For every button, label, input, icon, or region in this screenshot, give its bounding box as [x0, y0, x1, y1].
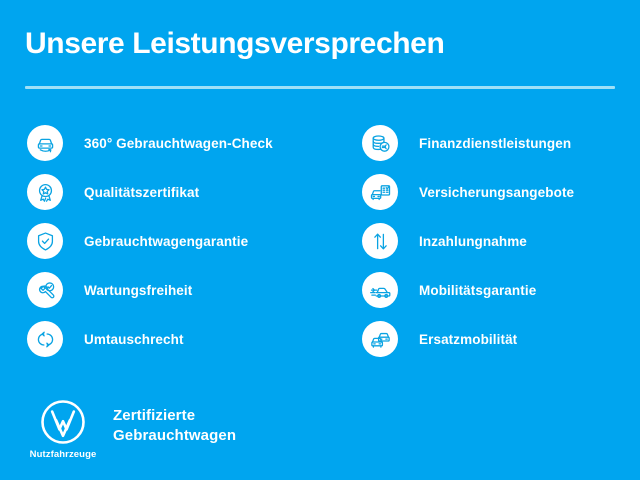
benefit-item[interactable]: Umtauschrecht	[27, 321, 273, 357]
title-divider	[25, 86, 615, 89]
benefits-column-left: 360° Gebrauchtwagen-Check Qualitätszerti…	[27, 125, 273, 357]
footer: Nutzfahrzeuge Zertifizierte Gebrauchtwag…	[27, 398, 236, 460]
benefit-label: Wartungsfreiheit	[84, 283, 192, 298]
exchange-arrows-icon	[27, 321, 63, 357]
benefit-item[interactable]: Gebrauchtwagengarantie	[27, 223, 273, 259]
benefit-item[interactable]: Qualitätszertifikat	[27, 174, 273, 210]
car-motion-icon	[362, 272, 398, 308]
footer-headline: Zertifizierte Gebrauchtwagen	[113, 406, 236, 446]
footer-headline-line2: Gebrauchtwagen	[113, 426, 236, 446]
benefit-label: Mobilitätsgarantie	[419, 283, 536, 298]
benefit-label: Gebrauchtwagengarantie	[84, 234, 248, 249]
car-check-360-icon	[27, 125, 63, 161]
benefit-label: Versicherungsangebote	[419, 185, 574, 200]
benefit-label: Qualitätszertifikat	[84, 185, 199, 200]
benefit-item[interactable]: 360° Gebrauchtwagen-Check	[27, 125, 273, 161]
footer-headline-line1: Zertifizierte	[113, 406, 236, 426]
benefit-item[interactable]: Wartungsfreiheit	[27, 272, 273, 308]
page-title: Unsere Leistungsversprechen	[25, 27, 444, 61]
wrench-check-icon	[27, 272, 63, 308]
benefit-item[interactable]: Versicherungsangebote	[362, 174, 574, 210]
benefit-item[interactable]: Finanzdienstleistungen	[362, 125, 574, 161]
car-checklist-icon	[362, 174, 398, 210]
benefit-label: Finanzdienstleistungen	[419, 136, 571, 151]
benefit-label: Ersatzmobilität	[419, 332, 517, 347]
benefit-label: Umtauschrecht	[84, 332, 184, 347]
benefit-item[interactable]: Mobilitätsgarantie	[362, 272, 574, 308]
benefits-column-right: Finanzdienstleistungen Versicherungsange…	[362, 125, 574, 357]
coins-euro-icon	[362, 125, 398, 161]
vw-roundel-icon	[39, 398, 87, 446]
two-cars-icon	[362, 321, 398, 357]
slide-root: Unsere Leistungsversprechen 360° Gebrauc…	[0, 0, 640, 480]
benefit-item[interactable]: Inzahlungnahme	[362, 223, 574, 259]
benefit-label: Inzahlungnahme	[419, 234, 527, 249]
volkswagen-logo: Nutzfahrzeuge	[27, 398, 99, 460]
shield-check-icon	[27, 223, 63, 259]
logo-subtitle: Nutzfahrzeuge	[30, 449, 97, 460]
benefit-label: 360° Gebrauchtwagen-Check	[84, 136, 273, 151]
arrows-up-down-icon	[362, 223, 398, 259]
award-medal-icon	[27, 174, 63, 210]
benefit-item[interactable]: Ersatzmobilität	[362, 321, 574, 357]
